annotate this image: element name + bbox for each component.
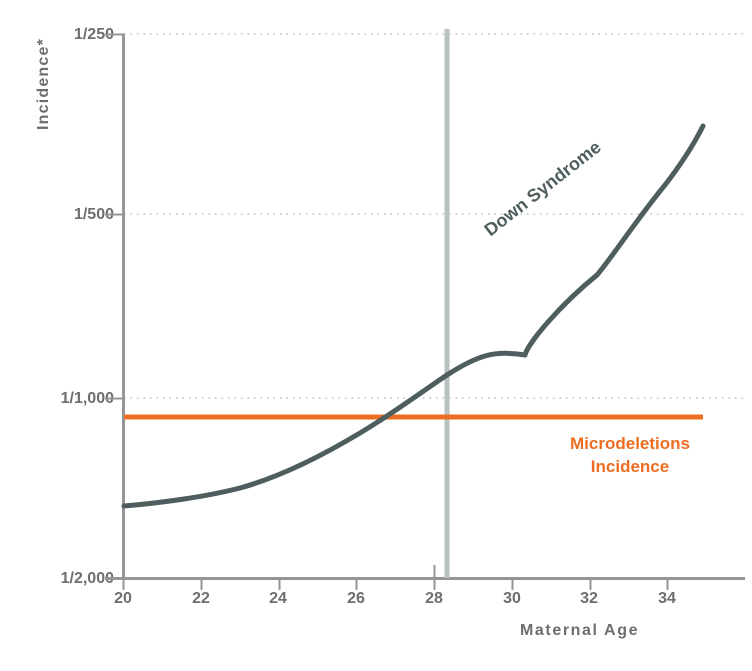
plot-area xyxy=(0,0,752,671)
series-label-microdeletions: Microdeletions Incidence xyxy=(540,432,720,478)
chart-container: Incidence* Maternal Age 1/250 1/500 1/1,… xyxy=(0,0,752,671)
microdeletions-label-line2: Incidence xyxy=(540,455,720,478)
microdeletions-label-line1: Microdeletions xyxy=(540,432,720,455)
